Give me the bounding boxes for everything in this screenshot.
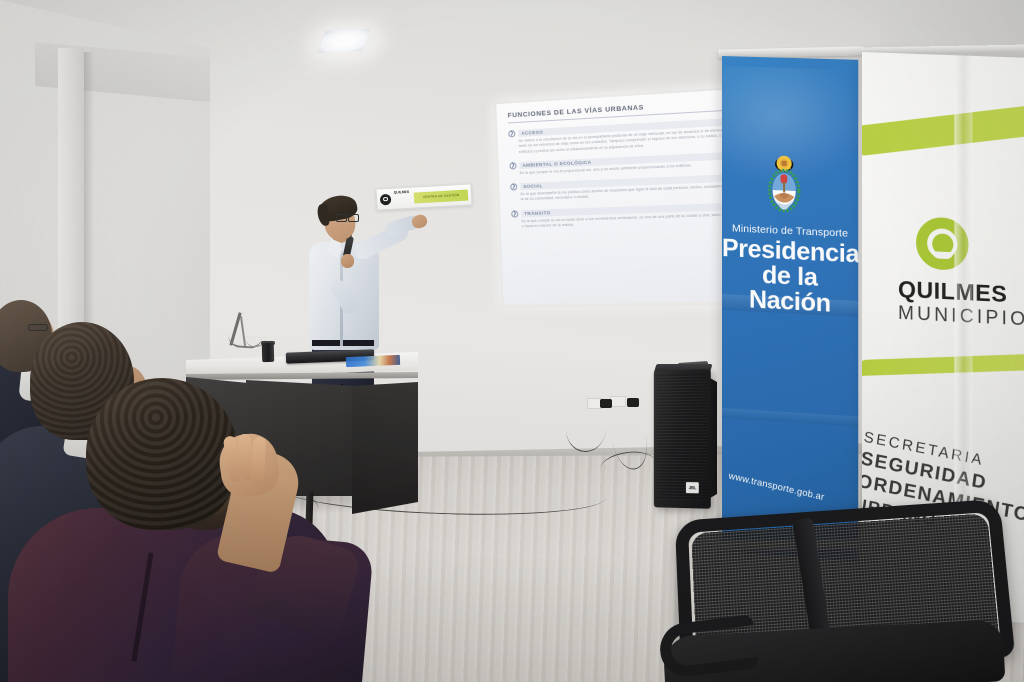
jbl-logo-icon: JBL xyxy=(686,482,699,493)
banner-presidency: Presidencia de la Nación xyxy=(722,236,858,318)
banner-url: www.transporte.gob.ar xyxy=(728,471,857,510)
presentation-room-photo: FUNCIONES DE LAS VÍAS URBANAS ❯ ACCESO S… xyxy=(0,0,1024,682)
slide-item: ❯ SOCIAL Es la que desempeña la vía públ… xyxy=(510,174,733,203)
glasses-icon xyxy=(336,214,358,220)
audience-front-hair-texture xyxy=(86,378,238,530)
pa-speaker: JBL xyxy=(654,369,711,509)
speaker-brand: JBL xyxy=(689,485,697,490)
slide-item: ❯ ACCESO Se refiere a la vinculación de … xyxy=(508,118,731,155)
chevron-right-circle-icon: ❯ xyxy=(510,183,517,190)
banner-green-swoosh xyxy=(862,353,1024,376)
chevron-right-circle-icon: ❯ xyxy=(509,162,516,169)
banner-green-swoosh xyxy=(862,103,1024,157)
slide-item: ❯ TRÁNSITO Es la que cumple la vía en ta… xyxy=(511,202,734,229)
plaque-banner-text: CENTRO DE GESTIÓN xyxy=(423,193,460,199)
slide-item: ❯ AMBIENTAL O ECOLÓGICA Es la que cumple… xyxy=(509,152,732,177)
banner-presidency-line2: de la Nación xyxy=(722,261,858,318)
banner-ministerio-transporte: Ministerio de Transporte Presidencia de … xyxy=(722,56,858,561)
chevron-right-circle-icon: ❯ xyxy=(511,210,518,217)
projected-slide: FUNCIONES DE LAS VÍAS URBANAS ❯ ACCESO S… xyxy=(496,89,748,304)
audience-front-fingers xyxy=(226,434,270,486)
speaker-grille xyxy=(657,373,708,500)
audience-member-front xyxy=(28,378,368,682)
plaque-org: QUILMES xyxy=(394,190,410,195)
presenter-belt xyxy=(312,340,374,346)
power-plug[interactable] xyxy=(600,399,612,408)
coffee-cup xyxy=(262,343,274,362)
banner-fold xyxy=(722,408,858,427)
wall-outlet[interactable] xyxy=(610,396,626,407)
chevron-right-circle-icon: ❯ xyxy=(508,130,515,137)
ceiling-led-panel-light xyxy=(318,29,371,53)
office-chair[interactable] xyxy=(664,508,1016,682)
presenter-left-hand xyxy=(341,254,354,268)
argentina-coat-of-arms-icon xyxy=(762,153,806,217)
power-plug[interactable] xyxy=(627,398,639,407)
